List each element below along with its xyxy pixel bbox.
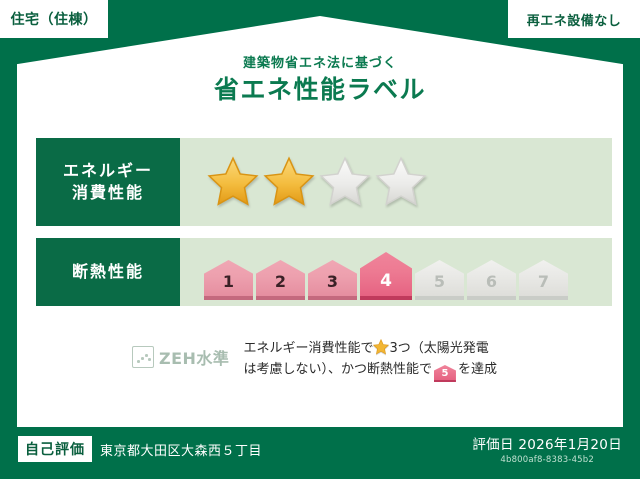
criteria-text-line2-before: は考慮しない）、かつ断熱性能で xyxy=(243,362,432,377)
insulation-house-2: 2 xyxy=(256,260,305,300)
header-subtitle: 建築物省エネ法に基づく xyxy=(0,56,640,72)
label-footer: 自己評価 東京都大田区大森西５丁目 評価日 2026年1月20日 4b800af… xyxy=(0,427,640,479)
star-icon-filled xyxy=(206,156,260,208)
insulation-performance-label: 断熱性能 xyxy=(36,238,180,306)
energy-performance-label-line2: 消費性能 xyxy=(72,182,144,204)
evaluation-date-value: 2026年1月20日 xyxy=(518,437,622,453)
insulation-house-list: 1234567 xyxy=(204,252,568,300)
insulation-house-current-4: 4 xyxy=(360,252,412,300)
building-type-tag: 住宅（住棟） xyxy=(0,0,108,38)
zeh-standard-mark: ZEH水準 xyxy=(132,345,229,369)
energy-performance-label: エネルギー 消費性能 xyxy=(36,138,180,226)
energy-performance-row: エネルギー 消費性能 xyxy=(36,138,612,226)
insulation-house-3: 3 xyxy=(308,260,357,300)
assessment-info: 自己評価 東京都大田区大森西５丁目 xyxy=(18,436,262,462)
criteria-text-line2-after: を達成 xyxy=(458,362,497,377)
zeh-mark-icon xyxy=(132,346,154,368)
insulation-performance-row: 断熱性能 1234567 xyxy=(36,238,612,306)
star-icon-empty xyxy=(318,156,372,208)
criteria-text-before-star: エネルギー消費性能で xyxy=(243,341,373,356)
insulation-house-5: 5 xyxy=(415,260,464,300)
criteria-text-after-star: 3つ（太陽光発電 xyxy=(389,341,488,356)
insulation-house-6: 6 xyxy=(467,260,516,300)
star-icon-filled xyxy=(262,156,316,208)
insulation-level-badge: 5 xyxy=(434,365,456,382)
evaluation-date-label: 評価日 xyxy=(472,437,513,453)
evaluation-date: 評価日 2026年1月20日 xyxy=(472,433,622,453)
label-uid: 4b800af8-8383-45b2 xyxy=(472,455,622,465)
label-header: 建築物省エネ法に基づく 省エネ性能ラベル xyxy=(0,56,640,103)
building-type-tag-label: 住宅（住棟） xyxy=(11,9,98,29)
assessment-type-badge: 自己評価 xyxy=(18,436,92,462)
star-icon-empty xyxy=(374,156,428,208)
energy-performance-label-line1: エネルギー xyxy=(63,160,153,182)
star-rating xyxy=(180,138,612,226)
page-title: 省エネ性能ラベル xyxy=(0,76,640,104)
renewable-energy-tag: 再エネ設備なし xyxy=(508,0,640,38)
star-icon-inline xyxy=(373,339,389,355)
insulation-house-1: 1 xyxy=(204,260,253,300)
zeh-criteria-text: エネルギー消費性能で3つ（太陽光発電 は考慮しない）、かつ断熱性能で5を達成 xyxy=(243,338,552,382)
property-address: 東京都大田区大森西５丁目 xyxy=(100,440,262,459)
zeh-standard-label: ZEH水準 xyxy=(159,345,229,369)
insulation-performance-label-text: 断熱性能 xyxy=(72,261,144,283)
energy-performance-label: 住宅（住棟） 再エネ設備なし 建築物省エネ法に基づく 省エネ性能ラベル エネルギ… xyxy=(0,0,640,479)
insulation-house-7: 7 xyxy=(519,260,568,300)
evaluation-date-block: 評価日 2026年1月20日 4b800af8-8383-45b2 xyxy=(472,433,622,465)
zeh-note: ZEH水準 エネルギー消費性能で3つ（太陽光発電 は考慮しない）、かつ断熱性能で… xyxy=(132,338,552,382)
renewable-energy-tag-label: 再エネ設備なし xyxy=(527,10,622,29)
insulation-scale: 1234567 xyxy=(180,238,612,306)
